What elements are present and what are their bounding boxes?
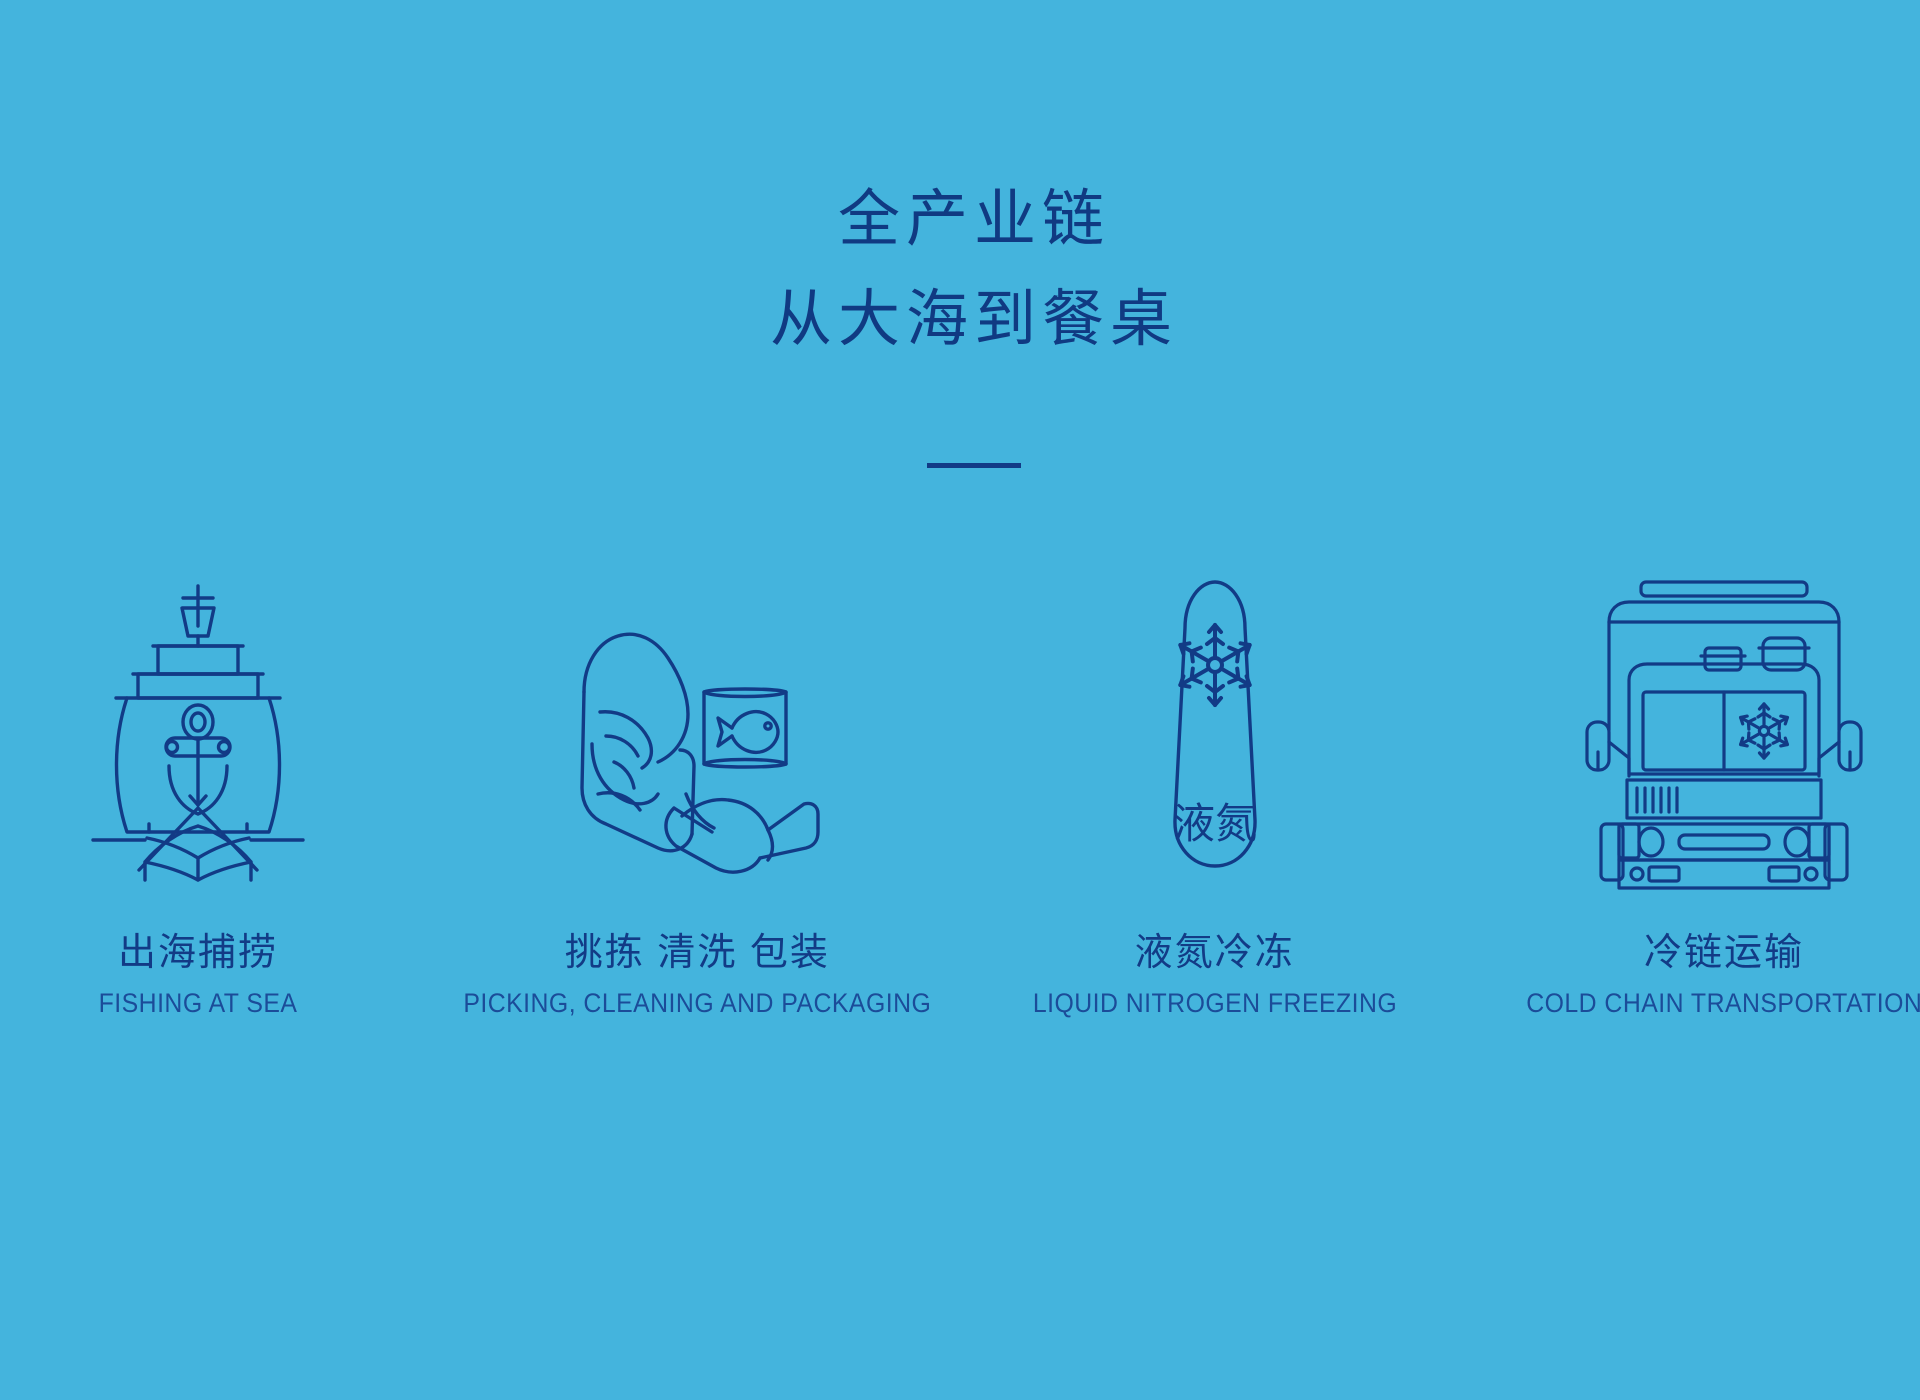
title-line-1: 全产业链 <box>28 170 1920 270</box>
step-title-cn: 出海捕捞 <box>90 928 306 978</box>
step-fishing-at-sea: 出海捕捞 FISHING AT SEA <box>0 520 438 1022</box>
fishing-boat-with-anchor-icon <box>83 520 313 880</box>
step-title-en: LIQUID NITROGEN FREEZING <box>1032 984 1396 1022</box>
step-title-cn: 液氮冷冻 <box>1017 928 1413 978</box>
step-picking-cleaning-packaging: 挑拣 清洗 包装 PICKING, CLEANING AND PACKAGING <box>457 520 937 1022</box>
title-divider <box>927 463 1021 468</box>
step-title-en: FISHING AT SEA <box>99 984 298 1022</box>
title-divider-wrap <box>0 455 1920 473</box>
step-labels: 液氮冷冻 LIQUID NITROGEN FREEZING <box>1017 928 1413 1022</box>
step-labels: 挑拣 清洗 包装 PICKING, CLEANING AND PACKAGING <box>443 928 952 1022</box>
hands-holding-packaged-fish-icon <box>562 520 832 880</box>
step-title-en: PICKING, CLEANING AND PACKAGING <box>463 984 931 1022</box>
step-title-en: COLD CHAIN TRANSPORTATION <box>1526 984 1920 1022</box>
process-steps: 出海捕捞 FISHING AT SEA <box>0 520 1920 1022</box>
step-title-cn: 冷链运输 <box>1509 928 1920 978</box>
step-labels: 出海捕捞 FISHING AT SEA <box>90 928 306 1022</box>
page-title: 全产业链 从大海到餐桌 <box>0 170 1920 370</box>
liquid-nitrogen-tank-icon: 液氮 <box>1140 520 1290 880</box>
promo-banner: 全产业链 从大海到餐桌 <box>0 0 1920 1400</box>
refrigerated-truck-icon <box>1579 520 1869 880</box>
step-liquid-nitrogen-freezing: 液氮 液氮冷冻 LIQUID NITROGEN FREEZING <box>975 520 1455 1022</box>
tank-label: 液氮 <box>1173 800 1257 847</box>
step-cold-chain-transportation: 冷链运输 COLD CHAIN TRANSPORTATION <box>1484 520 1920 1022</box>
step-title-cn: 挑拣 清洗 包装 <box>443 928 952 978</box>
step-labels: 冷链运输 COLD CHAIN TRANSPORTATION <box>1509 928 1920 1022</box>
title-line-2: 从大海到餐桌 <box>28 270 1920 370</box>
